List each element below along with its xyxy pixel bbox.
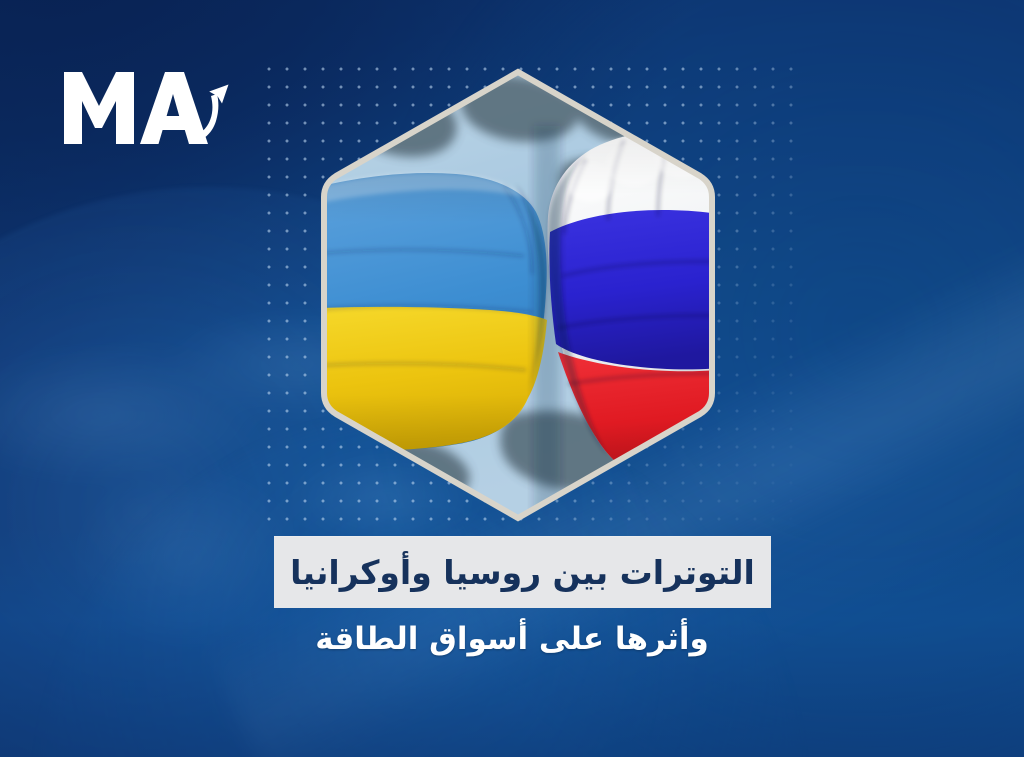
headline-band: التوترات بين روسيا وأوكرانيا xyxy=(274,536,771,608)
page-title: التوترات بين روسيا وأوكرانيا xyxy=(290,556,755,589)
hero-image-frame xyxy=(318,66,718,524)
ukraine-flag-fist xyxy=(318,173,547,450)
brand-logo[interactable] xyxy=(62,66,262,152)
poster-canvas: التوترات بين روسيا وأوكرانيا وأثرها على … xyxy=(0,0,1024,757)
page-subtitle: وأثرها على أسواق الطاقة xyxy=(0,622,1024,658)
logo-wordmark-shape xyxy=(64,72,208,144)
